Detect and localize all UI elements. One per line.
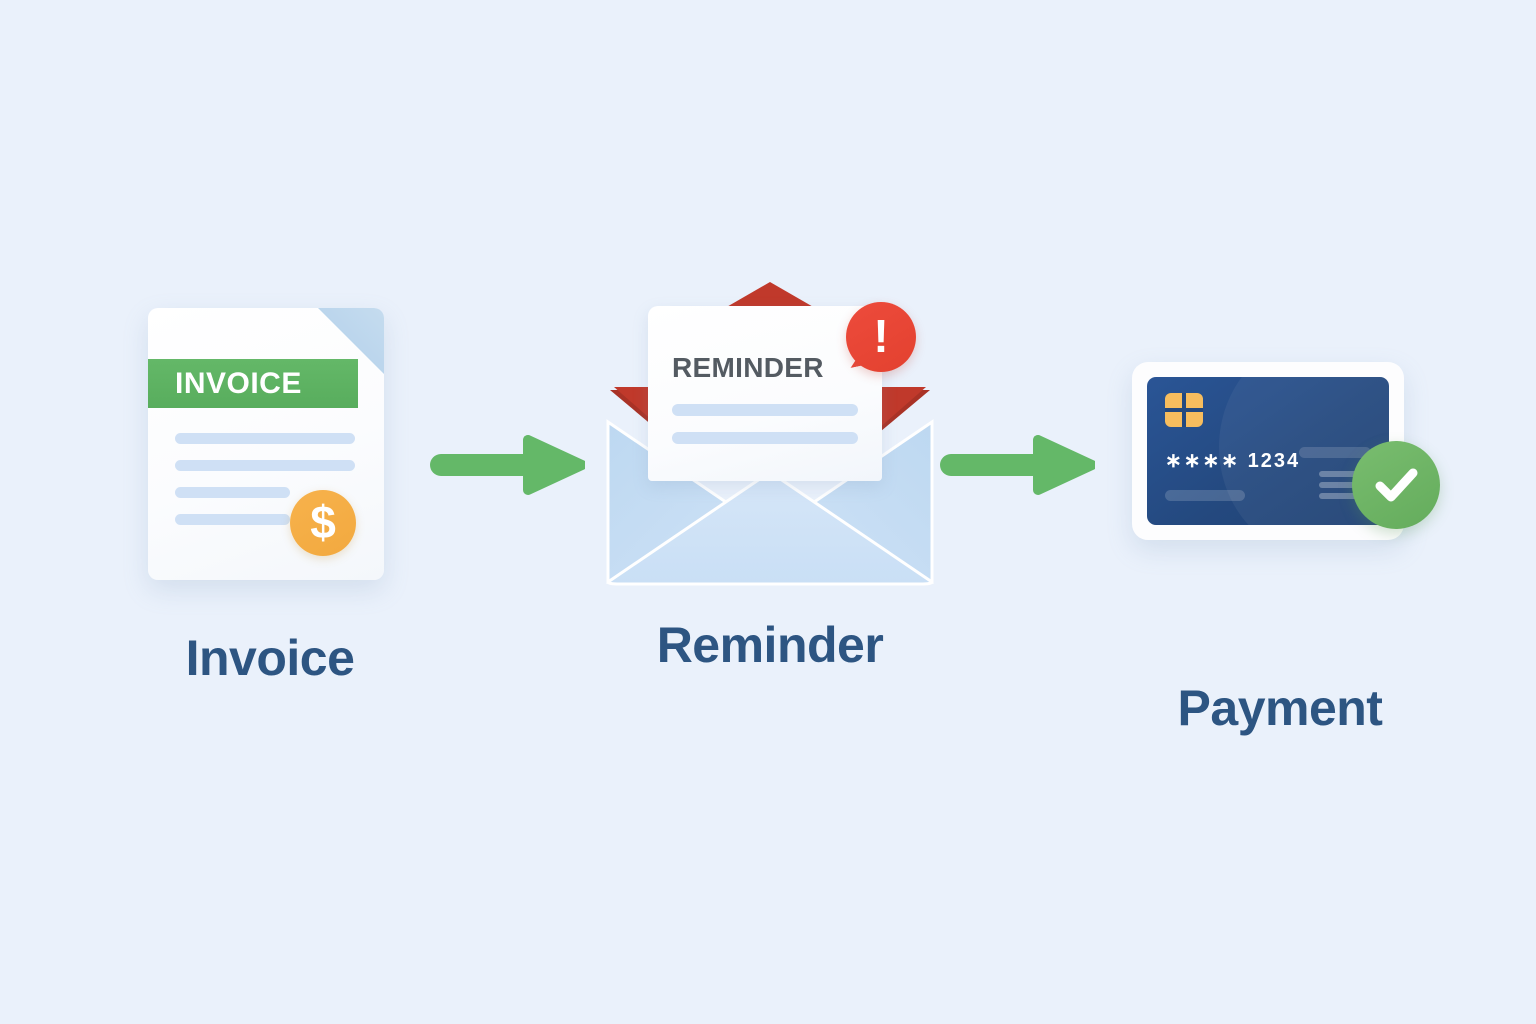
reminder-text-lines bbox=[672, 404, 858, 460]
card-name-placeholder-bar bbox=[1165, 490, 1245, 501]
step-label-payment: Payment bbox=[1120, 683, 1440, 733]
card-chip-icon bbox=[1165, 393, 1203, 427]
reminder-text-line bbox=[672, 404, 858, 416]
invoice-header-band: INVOICE bbox=[148, 359, 358, 408]
check-glyph bbox=[1370, 459, 1422, 511]
card-secondary-bar bbox=[1299, 447, 1371, 458]
open-envelope-reminder-icon: REMINDER ! bbox=[600, 282, 940, 592]
step-label-reminder: Reminder bbox=[600, 620, 940, 670]
invoice-text-line bbox=[175, 514, 290, 525]
check-success-icon bbox=[1352, 441, 1440, 529]
card-masked-number: ∗∗∗∗ 1234 bbox=[1165, 451, 1300, 471]
flow-step-invoice[interactable]: INVOICE $ Invoice bbox=[120, 295, 420, 683]
dollar-coin-icon: $ bbox=[290, 490, 356, 556]
invoice-text-line bbox=[175, 460, 355, 471]
step-label-invoice: Invoice bbox=[120, 633, 420, 683]
envelope-graphic: REMINDER ! bbox=[600, 282, 940, 587]
invoice-text-line bbox=[175, 487, 290, 498]
reminder-letter-title: REMINDER bbox=[672, 354, 824, 382]
arrow-right-icon bbox=[430, 435, 585, 495]
flow-step-payment[interactable]: ∗∗∗∗ 1234 Paymen bbox=[1120, 345, 1440, 733]
flow-step-reminder[interactable]: REMINDER ! Reminder bbox=[600, 282, 940, 670]
invoice-document-icon: INVOICE $ bbox=[120, 295, 420, 605]
alert-exclamation-glyph: ! bbox=[846, 300, 916, 372]
alert-exclamation-icon[interactable]: ! bbox=[846, 302, 916, 372]
arrow-right-icon bbox=[940, 435, 1095, 495]
invoice-document-sheet: INVOICE $ bbox=[148, 308, 384, 580]
reminder-text-line bbox=[672, 432, 858, 444]
invoice-band-label: INVOICE bbox=[175, 369, 302, 399]
dollar-sign-glyph: $ bbox=[310, 499, 336, 545]
illustration-canvas: INVOICE $ Invoice bbox=[0, 0, 1536, 1024]
payment-flow-diagram: INVOICE $ Invoice bbox=[0, 0, 1536, 1024]
credit-card-face: ∗∗∗∗ 1234 bbox=[1147, 377, 1389, 525]
credit-card-icon: ∗∗∗∗ 1234 bbox=[1120, 345, 1440, 655]
invoice-text-line bbox=[175, 433, 355, 444]
